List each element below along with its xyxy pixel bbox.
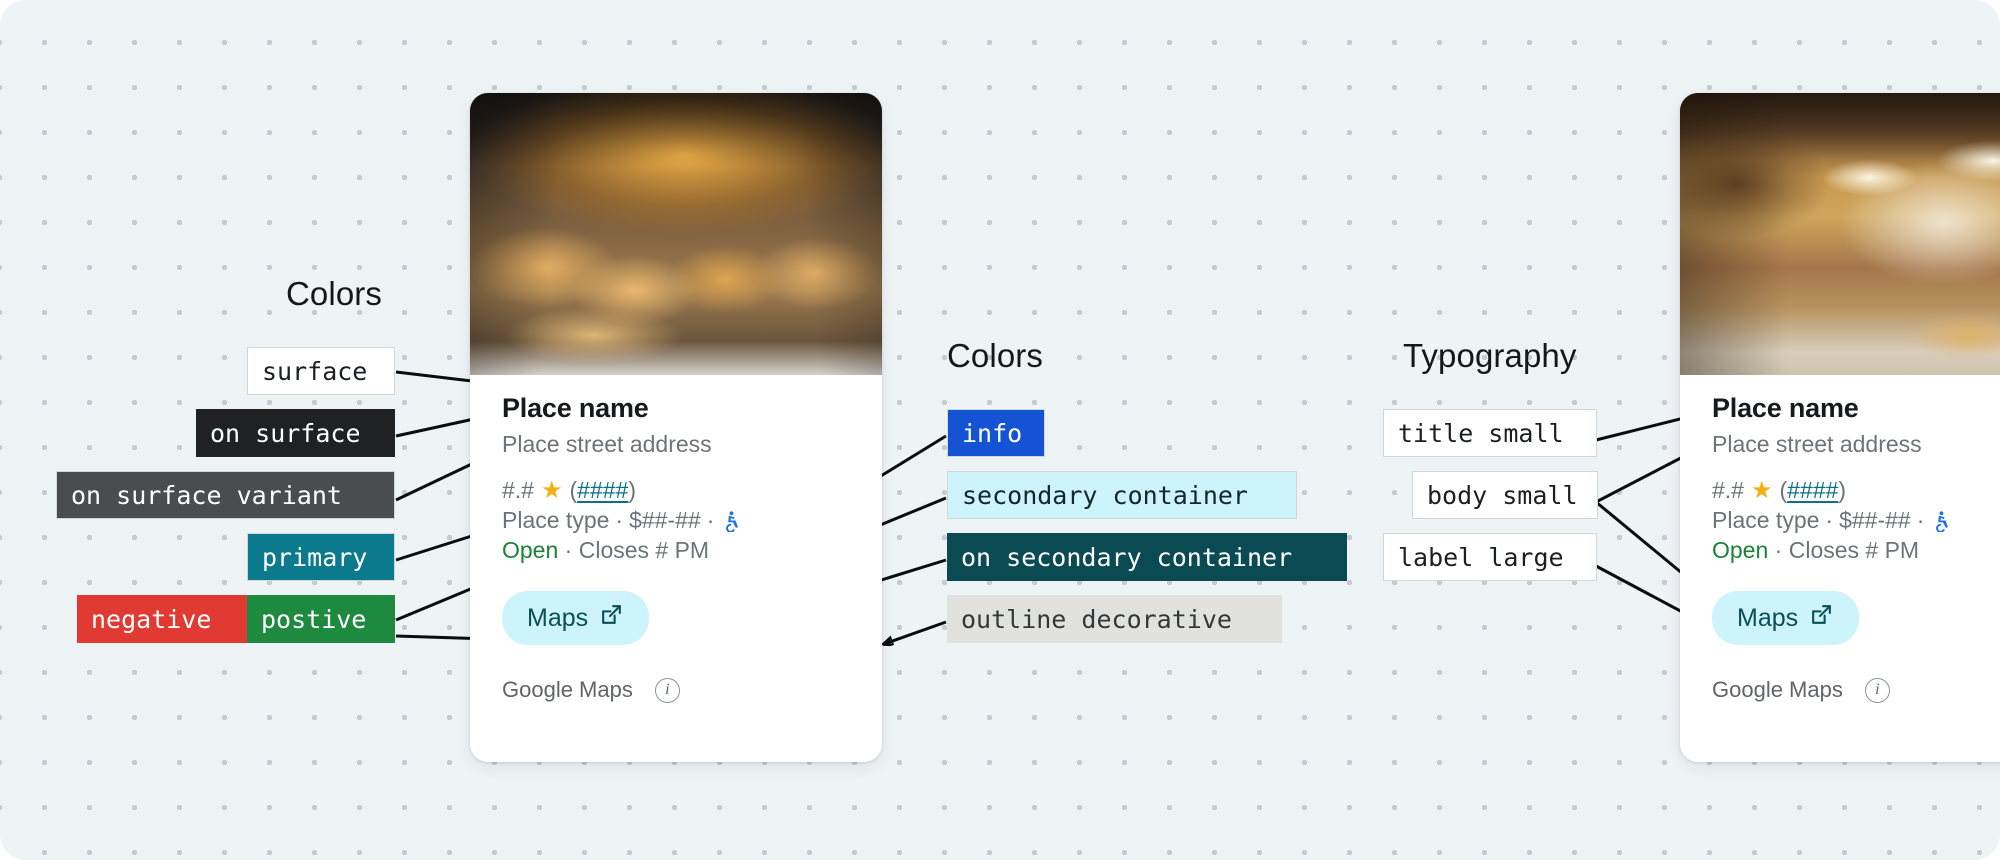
place-name: Place name [1712,393,2000,425]
hours-separator: · [565,537,573,563]
rating-value: #.# [502,477,534,504]
color-chip-label: surface [262,359,367,384]
design-canvas: Colors Colors Typography surface on surf… [0,0,2000,860]
meta-separator-2: · [707,507,715,534]
meta-separator-2: · [1917,507,1925,534]
closing-time: Closes # PM [1789,537,1919,563]
color-chip-surface[interactable]: surface [247,347,395,395]
color-chip-label: postive [261,607,366,632]
price-range: $##-## [629,507,701,534]
star-icon: ★ [1751,479,1773,503]
place-card-right[interactable]: Place name Place street address #.# ★ (#… [1680,93,2000,762]
color-chip-label: negative [91,607,211,632]
section-title-colors-left: Colors [286,275,382,313]
place-address: Place street address [502,429,850,459]
cafe-interior-photo [1680,93,2000,375]
hours-separator: · [1775,537,1783,563]
type-chip-body-small[interactable]: body small [1412,471,1598,519]
info-icon[interactable]: i [1865,678,1890,703]
place-name: Place name [502,393,850,425]
closing-time: Closes # PM [579,537,709,563]
color-chip-label: on surface [210,421,361,446]
price-range: $##-## [1839,507,1911,534]
type-chip-label: body small [1427,483,1578,508]
star-icon: ★ [541,479,563,503]
type-chip-label-large[interactable]: label large [1383,533,1597,581]
review-count-group[interactable]: (####) [1780,477,1847,504]
open-status: Open [1712,537,1768,563]
place-type: Place type [502,507,609,534]
color-chip-on-surface[interactable]: on surface [196,409,395,457]
footer-label: Google Maps [1712,677,1843,703]
maps-button[interactable]: Maps [502,591,649,645]
bakery-pastries-photo [470,93,882,375]
wheelchair-icon [720,510,742,532]
section-title-colors-mid: Colors [947,337,1043,375]
rating-value: #.# [1712,477,1744,504]
color-chip-secondary-container[interactable]: secondary container [947,471,1297,519]
place-type: Place type [1712,507,1819,534]
review-count[interactable]: #### [577,477,628,503]
color-chip-postive[interactable]: postive [247,595,395,643]
place-meta-row: Place type · $##-## · [1712,507,2000,534]
meta-separator-1: · [1825,507,1833,534]
color-chip-negative[interactable]: negative [77,595,247,643]
color-chip-label: secondary container [962,483,1248,508]
color-chip-primary[interactable]: primary [247,533,395,581]
maps-button-label: Maps [1737,604,1798,633]
type-chip-label: title small [1398,421,1564,446]
color-chip-outline-decorative[interactable]: outline decorative [947,595,1282,643]
color-chip-label: on surface variant [71,483,342,508]
color-chip-label: on secondary container [961,545,1292,570]
color-chip-label: primary [262,545,367,570]
card-footer: Google Maps i [1712,677,2000,727]
color-chip-on-surface-variant[interactable]: on surface variant [56,471,395,519]
color-chip-on-secondary-container[interactable]: on secondary container [947,533,1347,581]
external-link-icon [599,602,624,634]
color-chip-label: outline decorative [961,607,1232,632]
maps-button-label: Maps [527,604,588,633]
meta-separator-1: · [615,507,623,534]
open-status: Open [502,537,558,563]
hours-row: Open · Closes # PM [1712,537,2000,564]
hours-row: Open · Closes # PM [502,537,850,564]
rating-row: #.# ★ (####) [1712,477,2000,504]
place-meta-row: Place type · $##-## · [502,507,850,534]
info-icon[interactable]: i [655,678,680,703]
type-chip-label: label large [1398,545,1564,570]
place-address: Place street address [1712,429,2000,459]
review-count[interactable]: #### [1787,477,1838,503]
place-card-left[interactable]: Place name Place street address #.# ★ (#… [470,93,882,762]
card-footer: Google Maps i [502,677,850,727]
section-title-typography: Typography [1403,337,1576,375]
external-link-icon [1809,602,1834,634]
maps-button[interactable]: Maps [1712,591,1859,645]
color-chip-label: info [962,421,1022,446]
rating-row: #.# ★ (####) [502,477,850,504]
wheelchair-icon [1930,510,1952,532]
review-count-group[interactable]: (####) [570,477,637,504]
footer-label: Google Maps [502,677,633,703]
type-chip-title-small[interactable]: title small [1383,409,1597,457]
color-chip-info[interactable]: info [947,409,1045,457]
